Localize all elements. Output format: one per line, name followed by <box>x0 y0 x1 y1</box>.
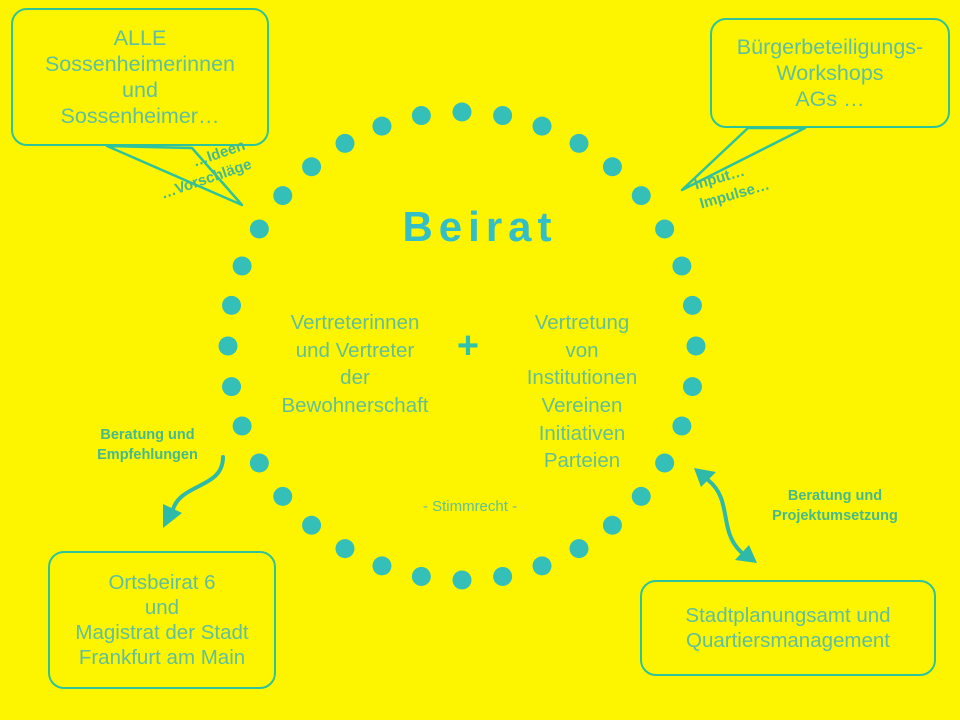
ring-dot <box>453 103 472 122</box>
speech-bubble-workshops: Bürgerbeteiligungs- Workshops AGs … <box>710 18 950 128</box>
speech-bubble-citizens-text: ALLE Sossenheimerinnen und Sossenheimer… <box>35 25 245 130</box>
ring-dot <box>533 556 552 575</box>
box-ortsbeirat-text: Ortsbeirat 6 und Magistrat der Stadt Fra… <box>65 570 258 670</box>
ring-dot <box>533 117 552 136</box>
box-stadtplanung: Stadtplanungsamt und Quartiersmanagement <box>640 580 936 676</box>
speech-bubble-citizens: ALLE Sossenheimerinnen und Sossenheimer… <box>11 8 269 146</box>
ring-dot <box>372 556 391 575</box>
column-institution-representatives: Vertretung von Institutionen Vereinen In… <box>492 309 672 475</box>
ring-dot <box>672 256 691 275</box>
speech-bubble-workshops-text: Bürgerbeteiligungs- Workshops AGs … <box>727 34 933 113</box>
box-ortsbeirat: Ortsbeirat 6 und Magistrat der Stadt Fra… <box>48 551 276 689</box>
arrowhead-down-left <box>163 504 182 528</box>
ring-dot <box>632 487 651 506</box>
ring-dot <box>372 117 391 136</box>
ring-dot <box>603 157 622 176</box>
arrow-beratung-empfehlungen <box>172 457 223 513</box>
ring-dot <box>219 337 238 356</box>
ring-dot <box>683 377 702 396</box>
ring-dot <box>412 106 431 125</box>
ring-dot <box>570 539 589 558</box>
ring-dot <box>570 134 589 153</box>
label-ideen-vorschlaege: …Ideen …Vorschläge <box>128 136 254 212</box>
arrowhead-down-right <box>735 545 757 563</box>
ring-dot <box>302 157 321 176</box>
box-stadtplanung-text: Stadtplanungsamt und Quartiersmanagement <box>675 603 900 653</box>
arrow-beratung-projektumsetzung <box>708 480 741 552</box>
diagram-canvas: ALLE Sossenheimerinnen und Sossenheimer…… <box>0 0 960 720</box>
label-beratung-empfehlungen: Beratung und Empfehlungen <box>60 426 235 465</box>
ring-dot <box>683 296 702 315</box>
ring-dot <box>336 134 355 153</box>
ring-dot <box>222 296 241 315</box>
ring-dot <box>222 377 241 396</box>
label-beratung-projektumsetzung: Beratung und Projektumsetzung <box>740 487 930 526</box>
voting-rights-note: - Stimmrecht - <box>360 498 580 515</box>
column-residents-representatives: Vertreterinnen und Vertreter der Bewohne… <box>262 309 448 420</box>
ring-dot <box>412 567 431 586</box>
ring-dot <box>603 516 622 535</box>
ring-dot <box>273 487 292 506</box>
ring-dot <box>336 539 355 558</box>
arrowhead-up-right <box>694 468 716 487</box>
ring-dot <box>233 417 252 436</box>
ring-dot <box>302 516 321 535</box>
ring-dot <box>672 417 691 436</box>
ring-dot <box>233 256 252 275</box>
plus-icon: + <box>448 327 488 365</box>
ring-dot <box>453 571 472 590</box>
ring-dot <box>493 106 512 125</box>
ring-dot <box>687 337 706 356</box>
ring-dot <box>250 454 269 473</box>
ring-dot <box>493 567 512 586</box>
